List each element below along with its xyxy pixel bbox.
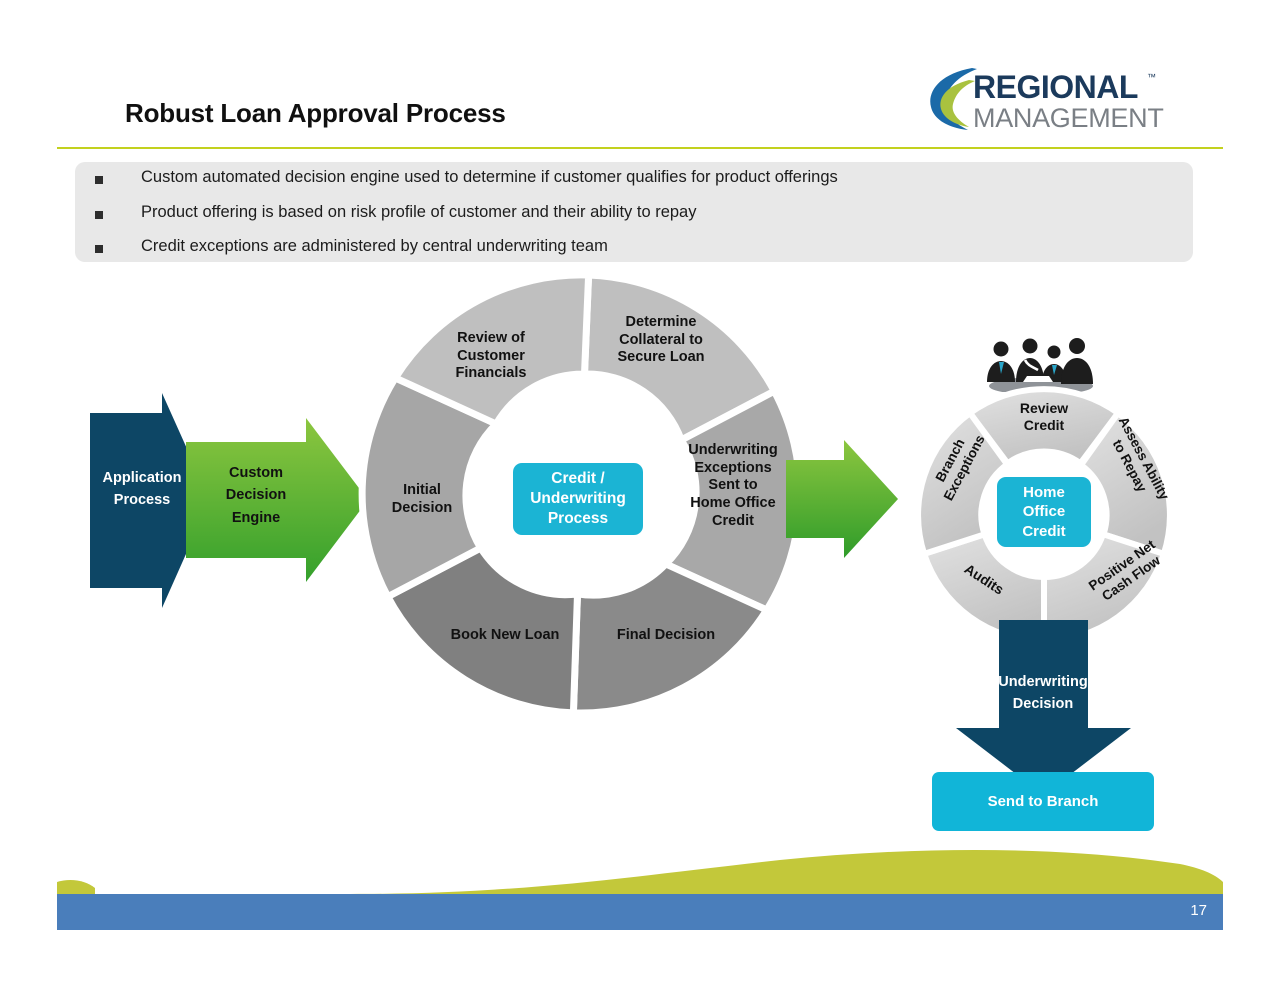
page-number: 17 (1190, 902, 1207, 919)
credit-underwriting-center-text: Credit / Underwriting Process (530, 469, 626, 529)
regional-management-logo: REGIONAL ™ MANAGEMENT (925, 62, 1165, 134)
wheel-connector-arrow-shape (786, 438, 898, 560)
custom-decision-engine-arrow: Custom Decision Engine (186, 410, 368, 590)
logo-word-regional: REGIONAL (973, 69, 1138, 105)
footer-bar: 17 (57, 894, 1223, 930)
application-process-label: Application Process (90, 467, 194, 512)
wheel-connector-arrow (786, 438, 898, 560)
business-team-icon (975, 336, 1107, 392)
bullet-item: Credit exceptions are administered by ce… (95, 237, 608, 256)
logo-trademark: ™ (1147, 72, 1156, 82)
bullet-square-icon (95, 211, 103, 219)
bullet-panel: Custom automated decision engine used to… (75, 162, 1193, 262)
logo-svg: REGIONAL ™ MANAGEMENT (925, 62, 1165, 134)
bullet-item: Custom automated decision engine used to… (95, 168, 838, 187)
title-divider (57, 147, 1223, 149)
send-to-branch-box[interactable]: Send to Branch (932, 772, 1154, 831)
underwriting-decision-arrow: Underwriting Decision (956, 620, 1131, 795)
underwriting-decision-label: Underwriting Decision (968, 672, 1118, 716)
logo-word-management: MANAGEMENT (973, 103, 1164, 133)
bullet-item: Product offering is based on risk profil… (95, 203, 696, 222)
bullet-square-icon (95, 176, 103, 184)
bullet-text: Product offering is based on risk profil… (141, 203, 696, 222)
page-title: Robust Loan Approval Process (125, 98, 506, 129)
bullet-text: Custom automated decision engine used to… (141, 168, 838, 187)
credit-underwriting-center-chip: Credit / Underwriting Process (513, 463, 643, 535)
home-office-credit-center-text: Home Office Credit (1022, 483, 1065, 542)
home-office-credit-center-chip: Home Office Credit (997, 477, 1091, 547)
slide-root: Robust Loan Approval Process REGIONAL ™ … (0, 0, 1280, 989)
business-team-svg (975, 336, 1107, 392)
custom-decision-engine-label: Custom Decision Engine (196, 462, 316, 529)
send-to-branch-label: Send to Branch (988, 793, 1099, 810)
bullet-square-icon (95, 245, 103, 253)
bullet-text: Credit exceptions are administered by ce… (141, 237, 608, 256)
